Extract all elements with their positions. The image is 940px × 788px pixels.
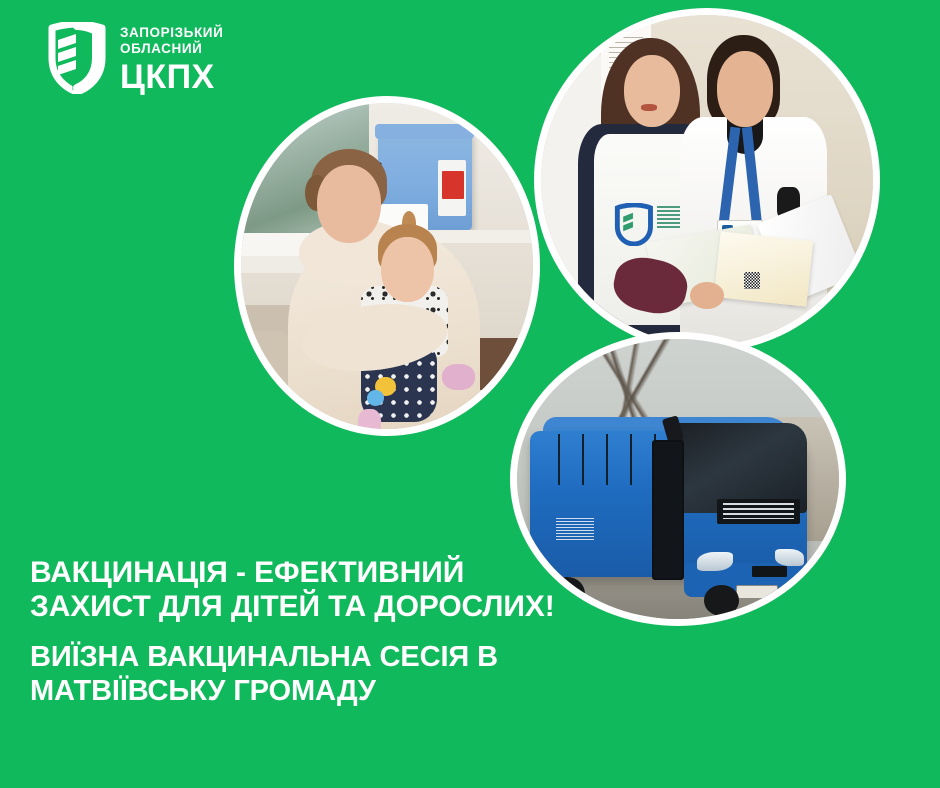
bus-front-wheel	[704, 585, 739, 616]
brand-logo-text: ЗАПОРІЗЬКИЙ ОБЛАСНИЙ ЦКПХ	[120, 23, 223, 93]
vest-shield-logo-icon	[614, 203, 654, 246]
clinic-chair	[247, 331, 288, 409]
worker-one-hand	[690, 282, 723, 308]
shield-logo-icon	[46, 22, 108, 94]
bus-headlight-right	[775, 549, 804, 566]
headline-line-2: ЗАХИСТ ДЛЯ ДІТЕЙ ТА ДОРОСЛИХ!	[30, 590, 590, 624]
bus-slogan-banner	[717, 499, 801, 524]
headline-block: ВАКЦИНАЦІЯ - ЕФЕКТИВНИЙ ЗАХИСТ ДЛЯ ДІТЕЙ…	[30, 556, 590, 624]
headline-line-1: ВАКЦИНАЦІЯ - ЕФЕКТИВНИЙ	[30, 556, 590, 590]
mother-face	[317, 165, 381, 243]
child-face	[381, 237, 434, 302]
bus-side-logo	[556, 518, 595, 540]
child-butterfly-print	[367, 390, 385, 406]
subheadline-line-1: ВИЇЗНА ВАКЦИНАЛЬНА СЕСІЯ В	[30, 640, 590, 674]
bus-door	[652, 440, 684, 580]
leaflet-qr-code	[744, 272, 761, 289]
subheadline-block: ВИЇЗНА ВАКЦИНАЛЬНА СЕСІЯ В МАТВІЇВСЬКУ Г…	[30, 640, 590, 708]
cooler-warning-sticker	[442, 171, 464, 198]
bus-license-plate	[736, 585, 778, 599]
photo-mother-child	[234, 96, 540, 436]
leaflet-yellow	[714, 231, 813, 306]
subheadline-line-2: МАТВІЇВСЬКУ ГРОМАДУ	[30, 674, 590, 708]
worker-two-face	[717, 51, 773, 127]
office-scene	[541, 15, 873, 345]
child-sock-right	[442, 364, 474, 390]
cooler-lid	[375, 124, 474, 140]
worker-one-lips	[641, 104, 658, 111]
worker-one-face	[624, 55, 680, 128]
photo-staff-leaflets	[534, 8, 880, 352]
clinic-scene	[241, 103, 533, 429]
brand-line-1: ЗАПОРІЗЬКИЙ	[120, 26, 223, 40]
building-window	[839, 467, 846, 483]
brand-line-2: ОБЛАСНИЙ	[120, 42, 223, 56]
vaccination-poster: ЗАПОРІЗЬКИЙ ОБЛАСНИЙ ЦКПХ	[0, 0, 940, 788]
brand-logo: ЗАПОРІЗЬКИЙ ОБЛАСНИЙ ЦКПХ	[46, 22, 223, 94]
child-sock-left	[358, 409, 381, 436]
bus-side-windows	[536, 434, 665, 484]
bus-brand-badge	[752, 566, 787, 577]
bus-slogan-text	[723, 503, 793, 519]
brand-abbreviation: ЦКПХ	[120, 61, 223, 93]
